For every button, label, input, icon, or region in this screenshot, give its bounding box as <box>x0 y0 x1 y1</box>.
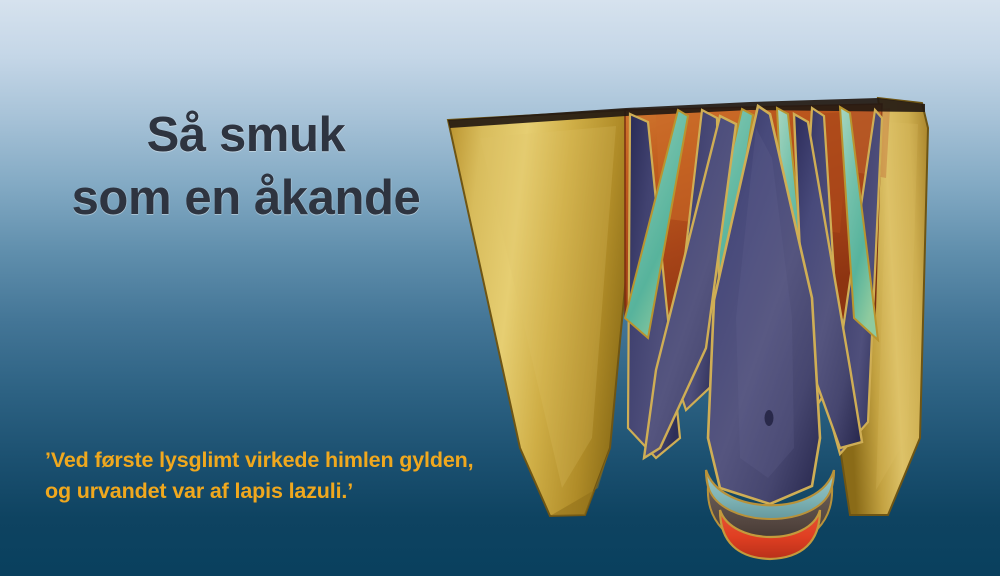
quote-line-2: og urvandet var af lapis lazuli.’ <box>45 476 515 507</box>
pull-quote: ’Ved første lysglimt virkede himlen gyld… <box>45 445 515 506</box>
page-title: Så smuk som en åkande <box>0 104 492 230</box>
quote-line-1: ’Ved første lysglimt virkede himlen gyld… <box>45 445 515 476</box>
headline-line-2: som en åkande <box>0 167 492 230</box>
headline-line-1: Så smuk <box>0 104 492 167</box>
slide-canvas: Så smuk som en åkande ’Ved første lysgli… <box>0 0 1000 576</box>
